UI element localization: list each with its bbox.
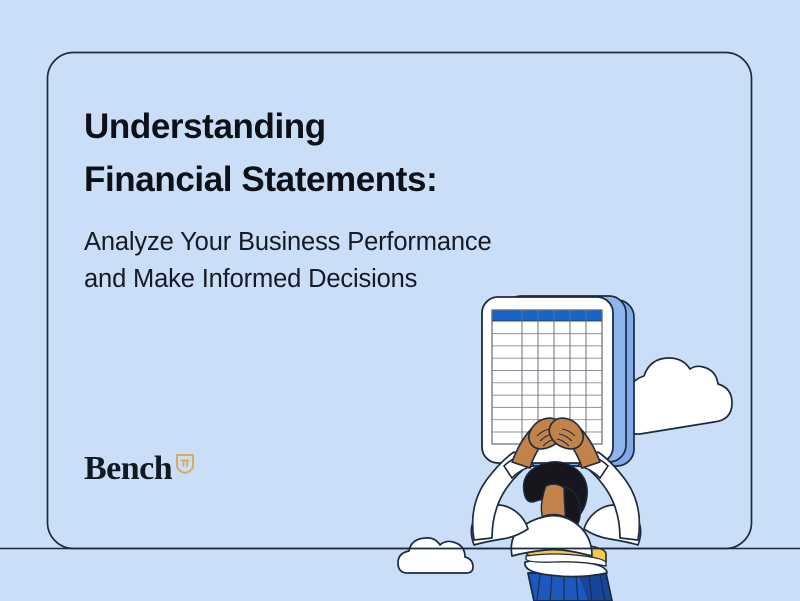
person-figure bbox=[471, 418, 640, 601]
person-hair bbox=[524, 462, 588, 525]
person-hem-band bbox=[525, 559, 607, 577]
person-head bbox=[541, 484, 580, 534]
person-skirt bbox=[528, 573, 612, 601]
cover-page: Understanding Financial Statements: Anal… bbox=[0, 0, 800, 601]
page-title-line-2: Financial Statements: bbox=[84, 153, 604, 206]
title-block: Understanding Financial Statements: Anal… bbox=[84, 100, 604, 297]
illustration-layer bbox=[0, 0, 800, 601]
spreadsheet-backing-layers bbox=[504, 296, 634, 466]
page-subtitle: Analyze Your Business Performance and Ma… bbox=[84, 224, 604, 296]
spreadsheet-tablet bbox=[482, 297, 613, 463]
person-arm-right bbox=[549, 418, 640, 545]
spreadsheet-header-row bbox=[492, 310, 602, 321]
person-collar bbox=[544, 514, 568, 528]
page-subtitle-line-1: Analyze Your Business Performance bbox=[84, 224, 604, 260]
person-torso bbox=[511, 516, 592, 556]
shield-badge-icon bbox=[175, 453, 195, 475]
brand-wordmark: Bench bbox=[84, 452, 172, 486]
spreadsheet-grid bbox=[492, 310, 602, 444]
cloud-left-icon bbox=[398, 538, 473, 573]
person-belt bbox=[526, 543, 606, 566]
background-fill bbox=[0, 0, 800, 601]
page-title-line-1: Understanding bbox=[84, 100, 604, 153]
person-arm-left bbox=[471, 418, 562, 545]
page-subtitle-line-2: and Make Informed Decisions bbox=[84, 261, 604, 297]
brand-logo: Bench bbox=[84, 452, 195, 486]
page-title: Understanding Financial Statements: bbox=[84, 100, 604, 206]
cloud-right-icon bbox=[628, 358, 732, 434]
